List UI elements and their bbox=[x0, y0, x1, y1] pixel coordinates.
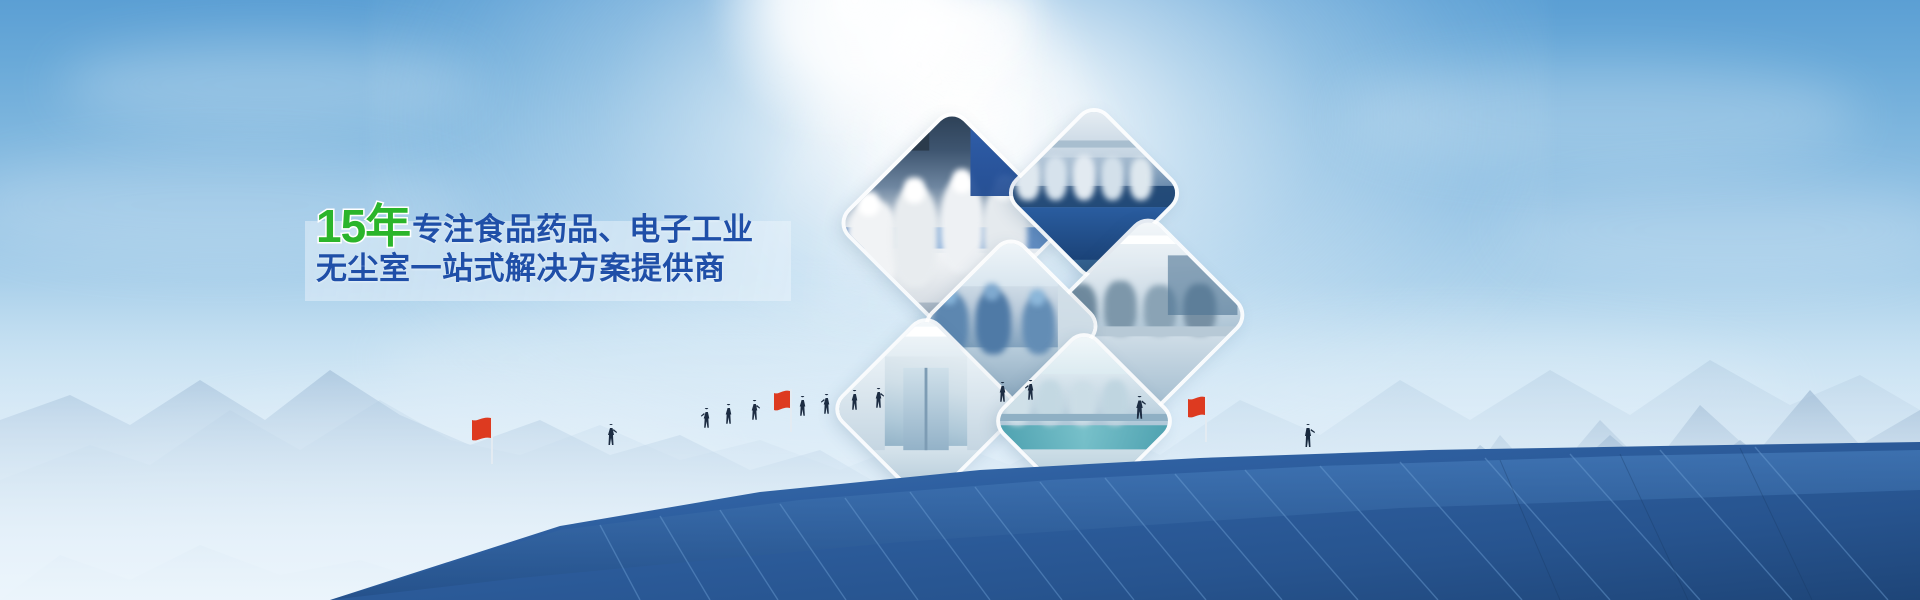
mountain-climber-silhouette bbox=[1132, 396, 1147, 420]
summit-flag bbox=[1186, 392, 1228, 447]
headline-line1-rest: 专注食品药品、电子工业 bbox=[412, 212, 753, 247]
mountain-climber-silhouette bbox=[796, 396, 809, 417]
headline-line2: 无尘室一站式解决方案提供商 bbox=[316, 253, 836, 285]
cloud bbox=[1340, 60, 1860, 170]
page-title: 15年专注食品药品、电子工业 无尘室一站式解决方案提供商 bbox=[316, 199, 836, 285]
years-accent: 15年 bbox=[316, 200, 410, 252]
summit-flag bbox=[470, 412, 516, 469]
mountain-climber-silhouette bbox=[848, 390, 861, 411]
mountain-climber-silhouette bbox=[1024, 380, 1037, 401]
mountain-climber-silhouette bbox=[604, 424, 618, 446]
mountain-climber-silhouette bbox=[820, 394, 833, 415]
hero-banner: 15年专注食品药品、电子工业 无尘室一站式解决方案提供商 bbox=[0, 0, 1920, 600]
mountain-climber-silhouette bbox=[722, 404, 735, 425]
mountain-climber-silhouette bbox=[996, 382, 1009, 403]
mountain-climber-silhouette bbox=[700, 408, 713, 429]
summit-ridge bbox=[0, 430, 1920, 600]
cloud bbox=[60, 40, 480, 130]
mountain-climber-silhouette bbox=[872, 388, 885, 409]
mountain-climber-silhouette bbox=[748, 400, 761, 421]
mountain-climber-silhouette bbox=[1300, 424, 1316, 448]
